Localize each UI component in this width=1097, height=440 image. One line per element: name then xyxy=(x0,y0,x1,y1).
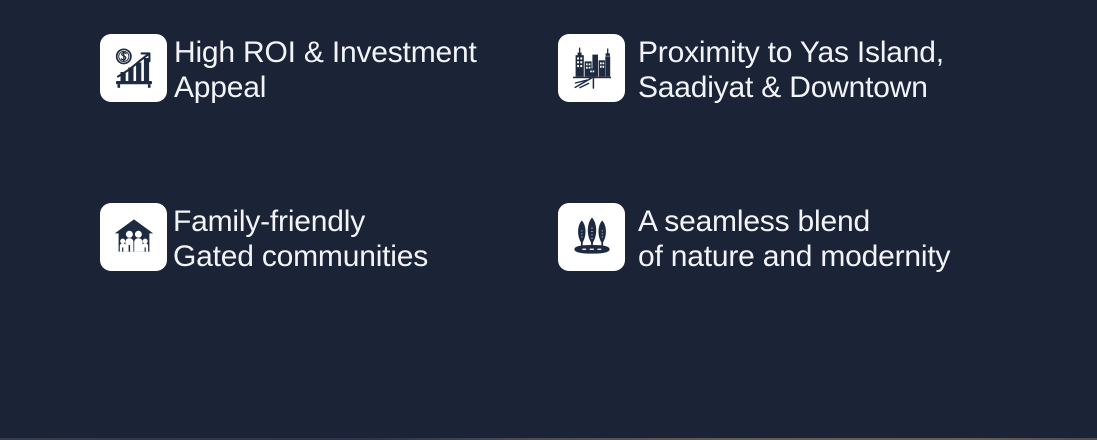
trees-park-icon xyxy=(569,214,615,260)
icon-card-family xyxy=(100,203,167,271)
feature-label-roi: High ROI & Investment Appeal xyxy=(174,34,477,105)
family-house-icon xyxy=(111,214,157,260)
feature-label-nature: A seamless blend of nature and modernity xyxy=(638,203,950,274)
feature-label-proximity: Proximity to Yas Island, Saadiyat & Down… xyxy=(638,34,944,105)
feature-highlights-panel: High ROI & Investment Appeal xyxy=(0,0,1097,440)
feature-label-family: Family-friendly Gated communities xyxy=(173,203,428,274)
city-skyline-icon xyxy=(569,45,615,91)
feature-item-family: Family-friendly Gated communities xyxy=(100,203,428,274)
icon-card-nature xyxy=(558,203,625,271)
growth-chart-dollar-icon xyxy=(111,45,157,91)
feature-item-proximity: Proximity to Yas Island, Saadiyat & Down… xyxy=(558,34,944,105)
feature-item-nature: A seamless blend of nature and modernity xyxy=(558,203,950,274)
feature-item-roi: High ROI & Investment Appeal xyxy=(100,34,477,105)
icon-card-proximity xyxy=(558,34,625,102)
icon-card-roi xyxy=(100,34,167,102)
